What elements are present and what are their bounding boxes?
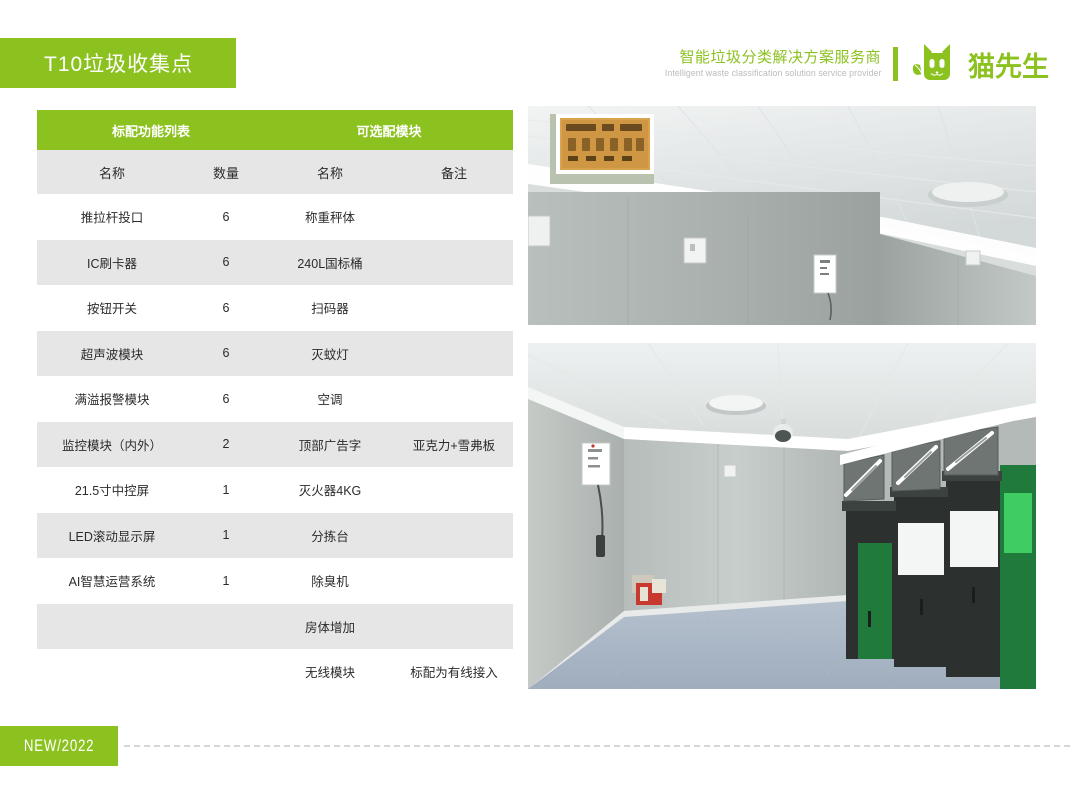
cell-std-qty: 6 — [187, 331, 265, 377]
container-ceiling-photo — [528, 106, 1036, 325]
cell-opt-name: 房体增加 — [265, 604, 395, 650]
cell-opt-note: 标配为有线接入 — [395, 649, 513, 695]
page-title-banner: T10垃圾收集点 — [0, 38, 236, 88]
table-row: LED滚动显示屏 1 分拣台 — [37, 513, 513, 559]
cell-std-name: IC刷卡器 — [37, 240, 187, 286]
table-row: 21.5寸中控屏 1 灭火器4KG — [37, 467, 513, 513]
table-row: 超声波模块 6 灭蚊灯 — [37, 331, 513, 377]
cell-opt-name: 无线模块 — [265, 649, 395, 695]
spec-table: 标配功能列表 可选配模块 名称 数量 名称 备注 推拉杆投口 6 称重秤体 IC… — [37, 110, 513, 695]
cell-opt-name: 称重秤体 — [265, 194, 395, 240]
cell-std-name: 监控模块（内外） — [37, 422, 187, 468]
logo: 猫先生 — [910, 40, 1049, 88]
cell-std-qty: 6 — [187, 240, 265, 286]
cell-std-name: LED滚动显示屏 — [37, 513, 187, 559]
cell-opt-note — [395, 513, 513, 559]
cell-std-name: 超声波模块 — [37, 331, 187, 377]
cell-std-name: AI智慧运营系统 — [37, 558, 187, 604]
cell-std-qty: 1 — [187, 513, 265, 559]
cell-opt-name: 灭蚊灯 — [265, 331, 395, 377]
table-row: 推拉杆投口 6 称重秤体 — [37, 194, 513, 240]
cell-std-qty: 1 — [187, 467, 265, 513]
cell-std-name: 推拉杆投口 — [37, 194, 187, 240]
group-header-standard: 标配功能列表 — [37, 110, 265, 150]
cell-opt-note: 亚克力+雪弗板 — [395, 422, 513, 468]
cell-std-qty: 6 — [187, 376, 265, 422]
brand-taglines: 智能垃圾分类解决方案服务商 Intelligent waste classifi… — [646, 48, 894, 81]
container-interior-illustration — [528, 343, 1036, 689]
brand-divider — [893, 47, 898, 81]
table-group-header-row: 标配功能列表 可选配模块 — [37, 110, 513, 150]
container-ceiling-illustration — [528, 106, 1036, 325]
column-header-opt-name: 名称 — [265, 150, 395, 194]
cell-opt-note — [395, 604, 513, 650]
table-row: 无线模块 标配为有线接入 — [37, 649, 513, 695]
cell-std-qty — [187, 649, 265, 695]
cell-opt-note — [395, 285, 513, 331]
cell-opt-note — [395, 376, 513, 422]
cell-std-qty — [187, 604, 265, 650]
page-title: T10垃圾收集点 — [44, 48, 193, 78]
brand-tagline-en: Intelligent waste classification solutio… — [664, 67, 881, 81]
group-header-optional: 可选配模块 — [265, 110, 513, 150]
table-row: 满溢报警模块 6 空调 — [37, 376, 513, 422]
column-header-opt-note: 备注 — [395, 150, 513, 194]
footer-badge-label: NEW/2022 — [24, 736, 94, 756]
cell-opt-note — [395, 240, 513, 286]
cell-opt-name: 扫码器 — [265, 285, 395, 331]
table-row: AI智慧运营系统 1 除臭机 — [37, 558, 513, 604]
cell-std-qty: 2 — [187, 422, 265, 468]
cell-opt-name: 灭火器4KG — [265, 467, 395, 513]
column-header-std-qty: 数量 — [187, 150, 265, 194]
brand-block: 智能垃圾分类解决方案服务商 Intelligent waste classifi… — [646, 40, 1050, 88]
cell-std-name: 满溢报警模块 — [37, 376, 187, 422]
cell-opt-name: 分拣台 — [265, 513, 395, 559]
footer-divider — [124, 745, 1070, 747]
cell-std-name — [37, 649, 187, 695]
brand-tagline-cn: 智能垃圾分类解决方案服务商 — [646, 48, 882, 67]
cell-std-qty: 6 — [187, 285, 265, 331]
cell-opt-name: 240L国标桶 — [265, 240, 395, 286]
table-row: IC刷卡器 6 240L国标桶 — [37, 240, 513, 286]
footer-badge: NEW/2022 — [0, 726, 118, 766]
cell-opt-note — [395, 194, 513, 240]
table-column-header: 名称 数量 名称 备注 — [37, 150, 513, 194]
cell-opt-name: 顶部广告字 — [265, 422, 395, 468]
logo-wordmark: 猫先生 — [968, 45, 1049, 84]
table-row: 监控模块（内外） 2 顶部广告字 亚克力+雪弗板 — [37, 422, 513, 468]
table-body: 推拉杆投口 6 称重秤体 IC刷卡器 6 240L国标桶 按钮开关 6 扫码器 … — [37, 194, 513, 695]
table-row: 房体增加 — [37, 604, 513, 650]
cat-head-icon — [910, 40, 962, 88]
cell-std-name: 21.5寸中控屏 — [37, 467, 187, 513]
cell-opt-name: 空调 — [265, 376, 395, 422]
column-header-std-name: 名称 — [37, 150, 187, 194]
cell-opt-name: 除臭机 — [265, 558, 395, 604]
cell-std-name — [37, 604, 187, 650]
table-column-header-row: 名称 数量 名称 备注 — [37, 150, 513, 194]
cell-opt-note — [395, 331, 513, 377]
table-row: 按钮开关 6 扫码器 — [37, 285, 513, 331]
cell-std-qty: 1 — [187, 558, 265, 604]
slide-page: T10垃圾收集点 智能垃圾分类解决方案服务商 Intelligent waste… — [0, 0, 1077, 793]
table-group-header: 标配功能列表 可选配模块 — [37, 110, 513, 150]
cell-std-qty: 6 — [187, 194, 265, 240]
cell-std-name: 按钮开关 — [37, 285, 187, 331]
container-interior-bins-photo — [528, 343, 1036, 689]
cell-opt-note — [395, 467, 513, 513]
cell-opt-note — [395, 558, 513, 604]
